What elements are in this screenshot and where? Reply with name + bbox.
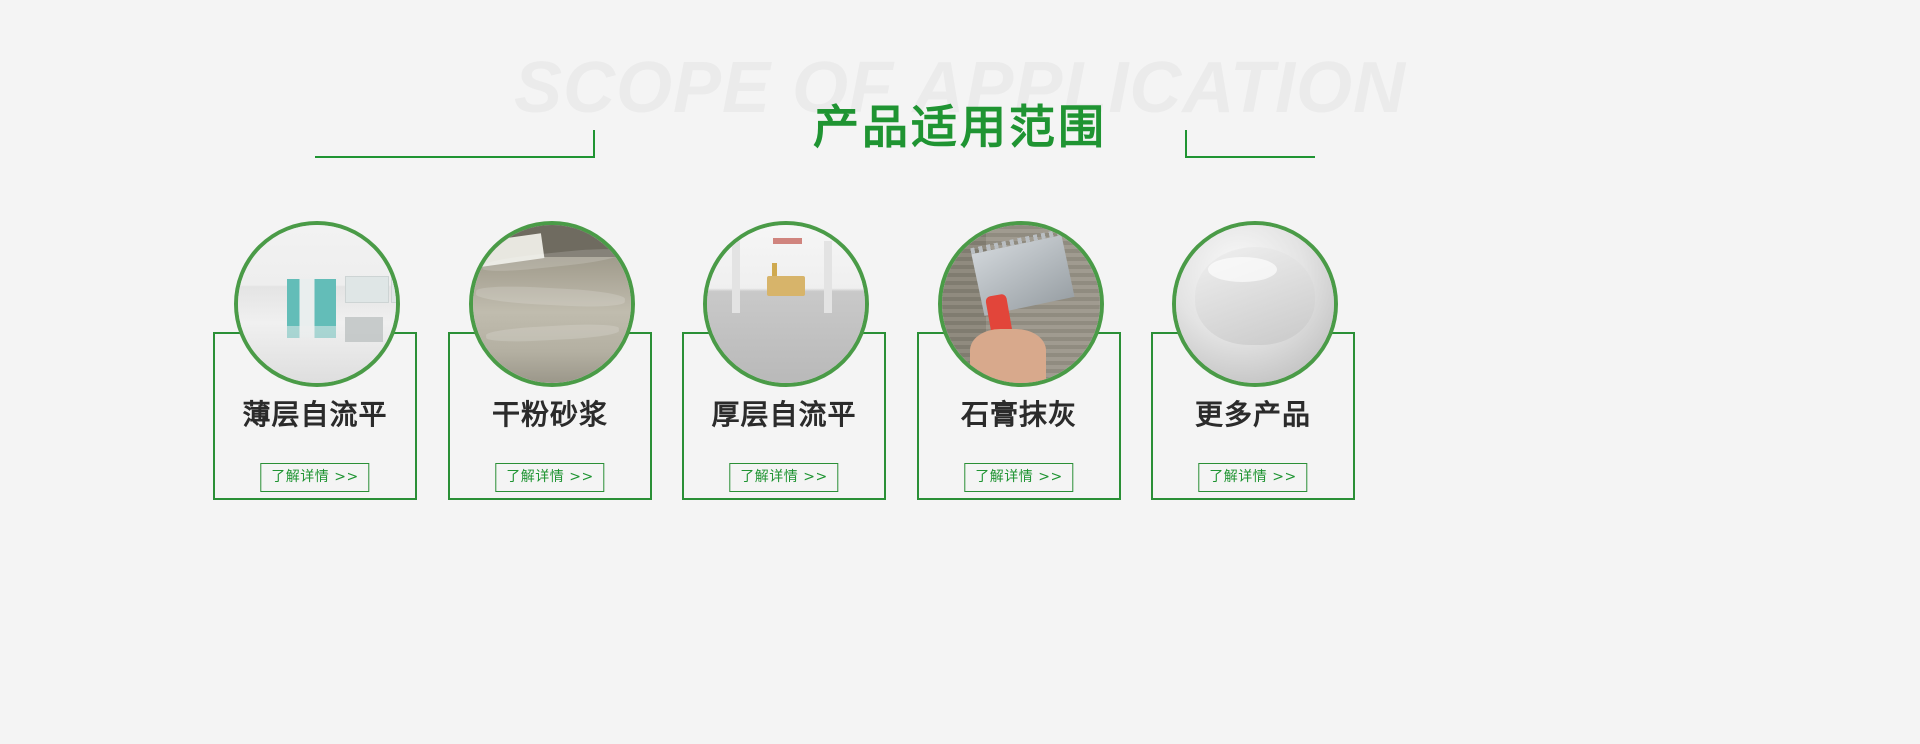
more-products-photo (1176, 225, 1334, 383)
page-root: SCOPE OF APPLICATION 产品适用范围 薄层自流平 了解详情 >… (0, 0, 1920, 744)
card-label-4: 石膏抹灰 (917, 398, 1121, 432)
card-image-1 (234, 221, 400, 387)
card-grid: 薄层自流平 了解详情 >> 干粉砂浆 了解详情 >> 厚层自流平 了解详情 >> (0, 0, 1920, 744)
card-label-2: 干粉砂浆 (448, 398, 652, 432)
card-detail-button-5[interactable]: 了解详情 >> (1198, 463, 1307, 492)
card-image-5 (1172, 221, 1338, 387)
card-image-2 (469, 221, 635, 387)
dry-powder-mortar-photo (473, 225, 631, 383)
thin-layer-self-leveling-floor-photo (238, 225, 396, 383)
card-detail-button-4[interactable]: 了解详情 >> (964, 463, 1073, 492)
thick-layer-self-leveling-floor-photo (707, 225, 865, 383)
card-image-3 (703, 221, 869, 387)
card-detail-button-3[interactable]: 了解详情 >> (729, 463, 838, 492)
card-label-3: 厚层自流平 (682, 398, 886, 432)
card-detail-button-1[interactable]: 了解详情 >> (260, 463, 369, 492)
gypsum-plastering-trowel-photo (942, 225, 1100, 383)
card-label-5: 更多产品 (1151, 398, 1355, 432)
card-image-4 (938, 221, 1104, 387)
card-label-1: 薄层自流平 (213, 398, 417, 432)
card-detail-button-2[interactable]: 了解详情 >> (495, 463, 604, 492)
